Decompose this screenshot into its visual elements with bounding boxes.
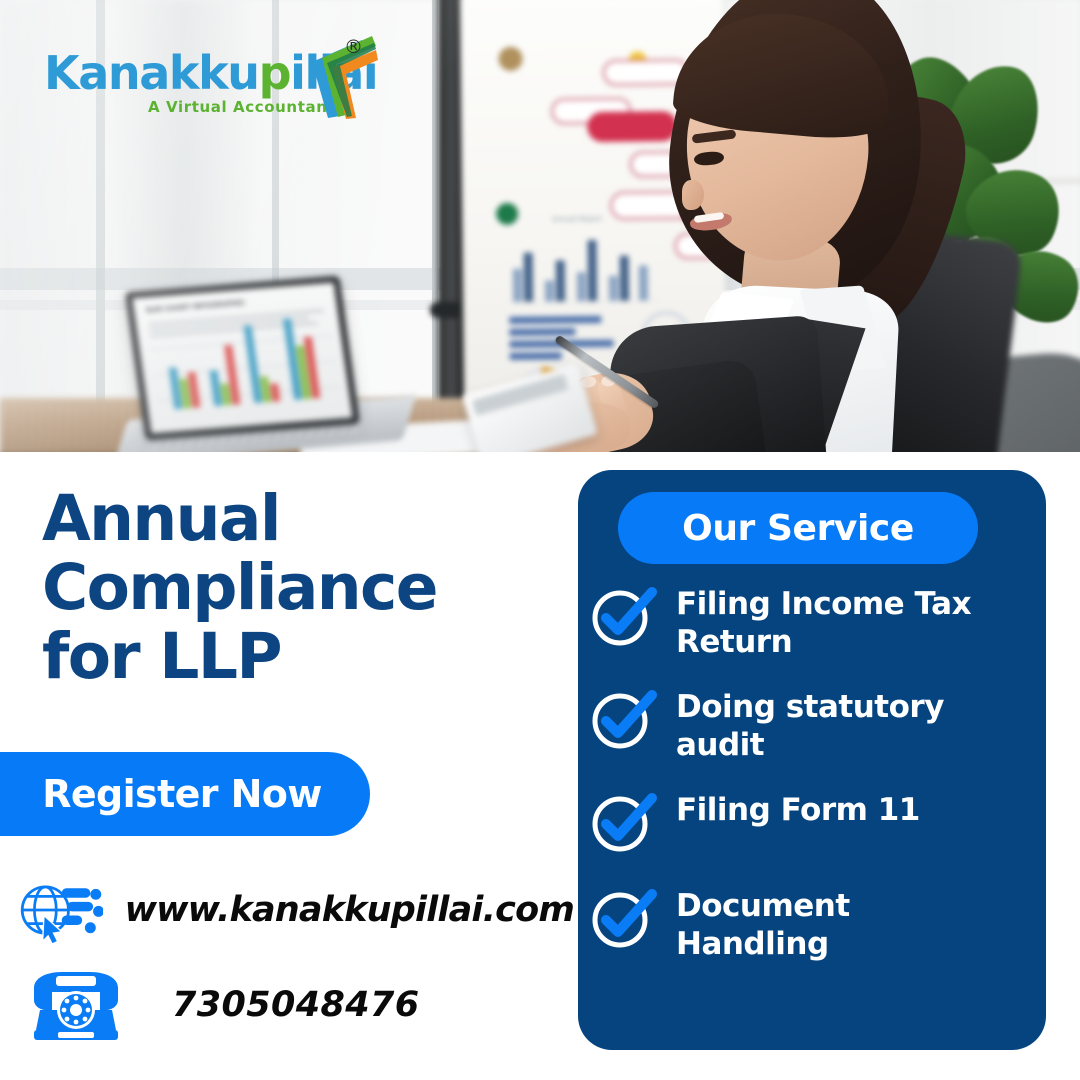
phone-number: 7305048476 [172,985,420,1025]
check-circle-icon [588,580,660,650]
board-magnet [496,203,518,225]
service-list-item[interactable]: Filing Income Tax Return [584,580,1046,661]
register-now-label: Register Now [42,772,322,816]
service-label: Doing statutory audit [676,688,1006,764]
service-list: Filing Income Tax Return Doing statutory… [584,580,1046,985]
service-label: Document Handling [676,887,1006,963]
mindmap-node [587,111,677,142]
board-hbar [509,316,601,324]
brand-logo[interactable]: Kanakkupillai A Virtual Accountant ® [44,28,344,120]
our-service-heading-label: Our Service [682,508,914,549]
kanakkupillai-swoosh-mark [306,34,378,120]
registered-trademark-icon: ® [344,36,363,58]
board-hbar [510,352,562,360]
board-knob [430,302,464,318]
page-title: Annual Compliance for LLP [42,484,562,691]
website-url: www.kanakkupillai.com [125,890,574,930]
board-bar-chart [508,229,659,303]
check-circle-icon [588,786,660,856]
board-hbar [509,328,575,336]
headline-line-2: Compliance [42,553,562,622]
service-list-item[interactable]: Filing Form 11 [584,786,1046,860]
laptop-chart-title: BAR CHART INFOGRAPHIC [146,300,246,315]
headline-line-1: Annual [42,484,562,553]
service-label: Filing Income Tax Return [676,585,1006,661]
check-circle-icon [588,882,660,952]
website-contact[interactable]: www.kanakkupillai.com [14,862,574,958]
board-magnet [498,47,522,71]
headline-line-3: for LLP [42,622,562,691]
phone-contact[interactable]: 7305048476 [28,960,448,1050]
service-label: Filing Form 11 [676,791,920,829]
our-service-heading-pill: Our Service [618,492,978,564]
service-list-item[interactable]: Document Handling [584,882,1046,963]
check-circle-icon [588,683,660,753]
poster-canvas: Annual Report [0,0,1080,1080]
telephone-icon [28,968,124,1042]
laptop-screen: BAR CHART INFOGRAPHIC [125,275,361,440]
service-list-item[interactable]: Doing statutory audit [584,683,1046,764]
globe-cursor-icon [14,862,103,958]
register-now-button[interactable]: Register Now [0,752,370,836]
logo-green-p: p [259,46,291,100]
board-chart-title: Annual Report [552,216,602,224]
laptop-display: BAR CHART INFOGRAPHIC [133,283,353,433]
our-service-panel: Our Service Filing Income Tax Return [578,470,1046,1050]
